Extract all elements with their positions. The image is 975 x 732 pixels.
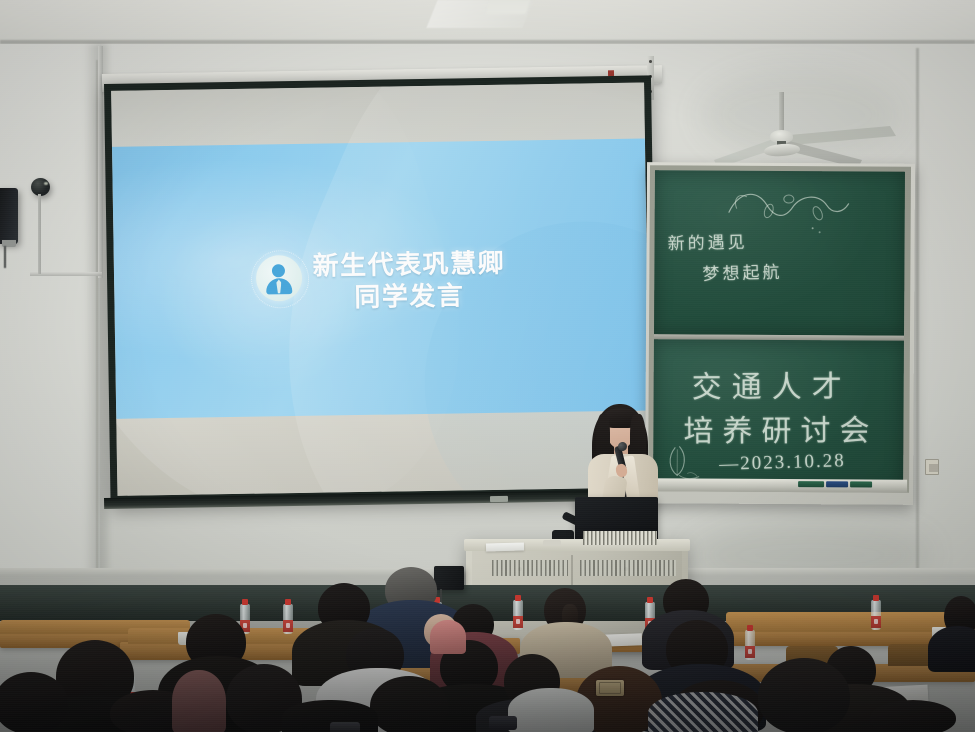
wall-radiator xyxy=(580,560,676,576)
sensor-highlight xyxy=(44,182,48,185)
ceiling-light-fixture-highlight xyxy=(486,0,531,14)
smartphone xyxy=(330,722,360,732)
screen-rail-clip xyxy=(490,496,508,502)
person-head xyxy=(758,658,850,732)
sensor-pole xyxy=(38,194,41,274)
water-bottle xyxy=(871,600,881,630)
bottle-label xyxy=(283,620,293,632)
blackboard-text-line-1: 新的遇见 xyxy=(667,228,747,255)
speech-notes xyxy=(486,543,524,552)
projection-screen: 新生代表巩慧卿 同学发言 xyxy=(104,75,658,504)
blackboard-bottom-panel: 交通人才 培养研讨会 —2023.10.28 xyxy=(653,339,904,489)
smartphone xyxy=(489,716,517,730)
bottle-cap xyxy=(873,595,879,601)
blackboard-date-text: —2023.10.28 xyxy=(719,450,846,476)
person-shoulders xyxy=(508,688,594,732)
person-head xyxy=(870,700,956,732)
blackboard: 新的遇见 梦想起航 交通人才 培养研讨会 —2023.10.28 xyxy=(645,162,915,505)
speaker-cable xyxy=(4,246,6,268)
bottle-label xyxy=(871,616,881,628)
person-patterned-top xyxy=(648,692,758,732)
lecture-hall-photo: 新生代表巩慧卿 同学发言 xyxy=(0,0,975,732)
person-shoulders xyxy=(172,670,226,732)
slide-text-block: 新生代表巩慧卿 同学发言 xyxy=(312,248,505,314)
chalk-dot-doodle-icon xyxy=(807,223,829,241)
person-avatar-icon xyxy=(255,255,302,302)
wall-radiator xyxy=(492,560,568,576)
microphone-holder xyxy=(543,540,561,546)
bottle-cap xyxy=(242,599,248,605)
hair-clip xyxy=(596,680,624,696)
bottle-label xyxy=(745,646,755,658)
projected-slide: 新生代表巩慧卿 同学发言 xyxy=(112,139,649,419)
chalk-vine-doodle-icon xyxy=(723,187,853,230)
bottle-cap xyxy=(647,597,653,603)
wall-speaker xyxy=(0,188,18,244)
blackboard-eraser xyxy=(850,481,872,487)
bottle-cap xyxy=(285,599,291,605)
blackboard-text-line-2: 梦想起航 xyxy=(702,258,783,285)
screen-surface: 新生代表巩慧卿 同学发言 xyxy=(111,83,650,496)
chalk-tray xyxy=(650,478,907,493)
lectern-upper-vent xyxy=(583,531,657,545)
wall-speaker xyxy=(434,566,464,590)
bottle-cap xyxy=(747,625,753,631)
water-bottle xyxy=(745,630,755,660)
wall-seam-right xyxy=(916,48,919,608)
person-shoulders xyxy=(430,620,466,654)
blackboard-frame: 新的遇见 梦想起航 交通人才 培养研讨会 —2023.10.28 xyxy=(648,165,911,493)
person-shoulders xyxy=(928,626,975,672)
slide-content: 新生代表巩慧卿 同学发言 xyxy=(112,139,649,419)
bottle-label xyxy=(513,616,523,628)
blackboard-headline-line-2: 培养研讨会 xyxy=(683,406,878,451)
blackboard-eraser xyxy=(798,481,824,487)
water-bottle xyxy=(283,604,293,634)
person-head xyxy=(0,672,68,732)
blackboard-top-panel: 新的遇见 梦想起航 xyxy=(654,170,905,336)
bottle-cap xyxy=(515,595,521,601)
water-bottle xyxy=(513,600,523,630)
power-outlet xyxy=(925,459,939,475)
blackboard-headline-line-1: 交通人才 xyxy=(692,362,852,407)
slide-title-line-1: 新生代表巩慧卿 xyxy=(312,248,505,283)
person-head xyxy=(370,676,448,732)
blackboard-eraser xyxy=(826,481,848,487)
slide-title-line-2: 同学发言 xyxy=(313,280,506,315)
